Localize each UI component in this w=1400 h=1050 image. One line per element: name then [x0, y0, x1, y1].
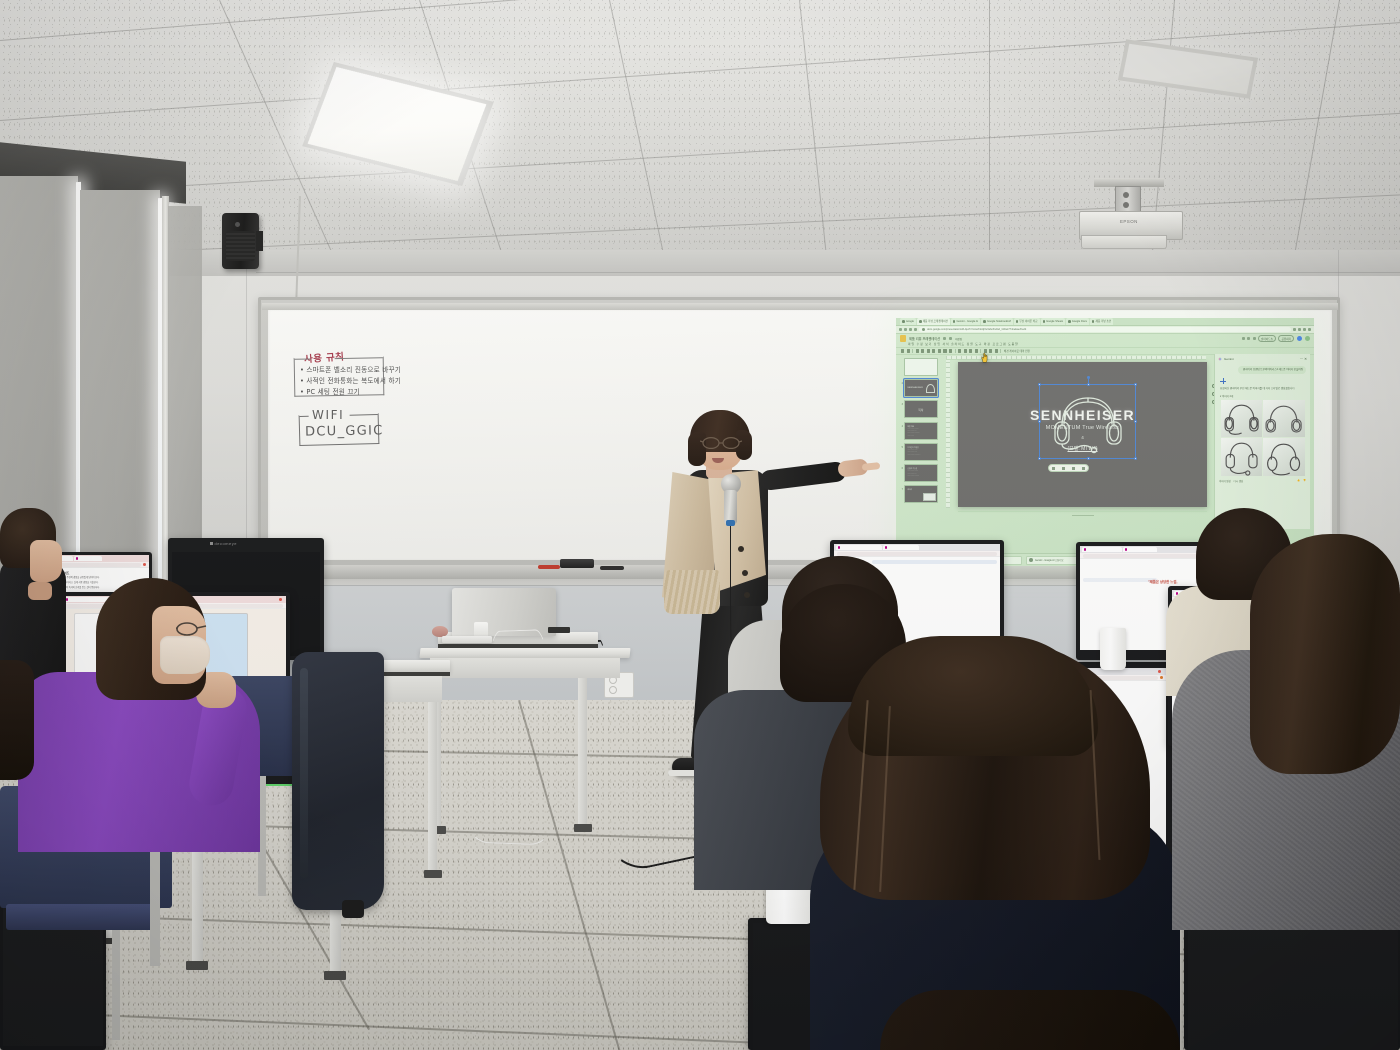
whiteboard-rules-box — [294, 356, 385, 397]
slide-number: 6 — [900, 464, 903, 470]
reload-icon[interactable] — [909, 328, 912, 331]
gemini-response-text: 요청하신 젠하이저 무선 헤드폰 이미지를 네 가지 스타일로 생성했습니다 — [1220, 387, 1305, 391]
url-value: docs.google.com/presentation/d/1JqvZnYcA… — [925, 328, 1026, 331]
slide-number: 3 — [900, 400, 903, 406]
slide-number: 2 — [900, 379, 903, 385]
thumb-body: 배터리 — [907, 489, 935, 491]
avatar[interactable] — [1160, 676, 1163, 679]
projector-lens — [1081, 235, 1167, 249]
thumb-title: 제품 개요 — [907, 426, 914, 428]
browser-tab[interactable]: Google — [900, 318, 916, 324]
slide-number: 4 — [900, 422, 903, 428]
favicon-icon — [885, 546, 887, 548]
replace-image-icon[interactable] — [1072, 467, 1075, 470]
keyboard[interactable] — [442, 636, 492, 643]
gemini-collapse-toggle[interactable]: ▾ 이미지 4개 — [1220, 394, 1305, 398]
profile-badge[interactable] — [279, 598, 282, 601]
url-text[interactable] — [837, 552, 997, 556]
save-status: 저장됨 — [955, 337, 962, 341]
favicon-icon — [66, 598, 68, 600]
zoom-icon[interactable] — [921, 349, 924, 352]
thumb-body: 제품 개요 ··································… — [907, 426, 935, 437]
gemini-image-1[interactable] — [1221, 400, 1262, 437]
thumb-image-placeholder — [923, 493, 936, 501]
image-options-icon[interactable] — [1082, 467, 1085, 470]
line-icon[interactable] — [949, 349, 952, 352]
redo-icon[interactable] — [907, 349, 910, 352]
crop-icon[interactable] — [1052, 467, 1055, 470]
headphone-icon — [1221, 400, 1262, 437]
border-weight-icon[interactable] — [969, 349, 972, 352]
slide-thumbnail[interactable]: 제품 개요 ··································… — [904, 422, 938, 440]
browser-tab[interactable]: 제품 리뷰 초안 — [1090, 318, 1113, 324]
share-button[interactable]: 공유하기 — [1278, 335, 1294, 342]
filmstrip-row[interactable]: 4 제품 개요 ································… — [900, 422, 942, 440]
thumb-title: 목차 — [918, 408, 923, 412]
gemini-action-regenerate[interactable]: 이미지 생성 — [1219, 479, 1231, 483]
folder-icon[interactable] — [949, 337, 952, 340]
student-neck — [28, 582, 52, 600]
select-icon[interactable] — [927, 349, 930, 352]
browser-tab-active[interactable]: 제품 리뷰 프레젠테이션 — [917, 318, 950, 324]
gemini-panel-header: Gemini ⋯ ✕ — [1215, 354, 1310, 363]
border-color-icon[interactable] — [964, 349, 967, 352]
textbox-icon[interactable] — [932, 349, 935, 352]
slides-logo-icon — [900, 335, 906, 342]
student-head — [848, 636, 1098, 756]
home-icon[interactable] — [914, 328, 917, 331]
browser-tab[interactable]: Google Docs — [1066, 318, 1089, 324]
filmstrip-row[interactable]: 7 배터리 — [900, 485, 942, 503]
taskbar-window-label: Gemini - Google AI 스튜디오 — [1033, 558, 1064, 562]
favicon-icon — [1068, 320, 1071, 323]
filmstrip-row[interactable]: 2 SENNHEISER — [900, 379, 942, 397]
gemini-title: Gemini — [1224, 357, 1234, 361]
thumb-up-icon[interactable]: 👍 — [1297, 479, 1300, 482]
browser-tab[interactable] — [883, 545, 919, 550]
new-slide-icon[interactable] — [916, 349, 919, 352]
close-icon[interactable]: ⋯ ✕ — [1300, 357, 1307, 361]
comment-icon[interactable] — [1242, 337, 1245, 340]
vertical-ruler — [946, 360, 950, 508]
browser-address-bar[interactable]: docs.google.com/presentation/d/1JqvZnYcA… — [896, 326, 1314, 334]
wall-speaker — [222, 213, 259, 269]
gemini-sparkle-accent-icon — [1220, 378, 1226, 384]
whiteboard-wifi-box — [299, 413, 380, 446]
speaker-grille — [226, 231, 255, 261]
tab-label: Google Docs — [1072, 320, 1087, 323]
favicon-icon — [1125, 548, 1127, 550]
forward-icon[interactable] — [904, 328, 907, 331]
gemini-sparkle-icon — [1218, 357, 1222, 361]
gemini-image-grid[interactable] — [1221, 400, 1305, 476]
filmstrip-row[interactable] — [900, 358, 942, 376]
outlet-socket-2[interactable] — [609, 686, 617, 694]
tab-label: Google NotebookLM — [987, 320, 1011, 323]
gemini-footer-actions[interactable]: 이미지 생성 다시 생성 👍 👎 — [1215, 476, 1310, 483]
gemini-side-panel[interactable]: Gemini ⋯ ✕ 젠하이저 모멘텀 트루와이어리스4 헤드폰 이미지 만들어… — [1214, 354, 1310, 529]
headphone-icon — [1263, 438, 1304, 475]
filmstrip-row[interactable]: 6 음질과 기능성 ······························… — [900, 464, 942, 482]
slide-thumbnail-selected[interactable]: SENNHEISER — [904, 379, 938, 397]
star-icon[interactable] — [943, 337, 946, 340]
favicon-icon — [983, 320, 986, 323]
student-face-profile — [30, 540, 62, 582]
gemini-user-prompt: 젠하이저 모멘텀 트루와이어리스4 헤드폰 이미지 만들어줘 — [1238, 366, 1306, 374]
tab-label: Google Sheets — [1046, 320, 1063, 323]
undo-icon[interactable] — [901, 349, 904, 352]
gemini-image-2[interactable] — [1263, 400, 1304, 437]
browser-tab[interactable] — [1123, 547, 1157, 552]
slide-thumbnail[interactable]: 목차 — [904, 400, 938, 418]
slide-number: 5 — [900, 443, 903, 449]
tab-label: Gemini - Google AI — [956, 320, 978, 323]
browser-tab[interactable] — [74, 556, 102, 561]
whiteboard-top-rail — [262, 303, 1338, 310]
add-account-icon[interactable] — [1297, 336, 1303, 342]
favicon-icon — [1016, 320, 1019, 323]
shape-icon[interactable] — [943, 349, 946, 352]
browser-tab[interactable]: Google Sheets — [1041, 318, 1066, 324]
star-icon[interactable] — [1293, 328, 1296, 331]
resize-handle-n[interactable] — [1087, 383, 1090, 386]
browser-tab[interactable] — [836, 545, 882, 550]
slide-thumbnail[interactable]: 배터리 — [904, 485, 938, 503]
browser-tab[interactable]: 무선 이어폰 비교 — [1014, 318, 1040, 324]
headphone-icon — [1263, 400, 1304, 437]
glasses-icon — [700, 436, 742, 450]
gemini-image-3[interactable] — [1221, 438, 1262, 475]
chat-bubble — [1083, 578, 1157, 582]
thumb-down-icon[interactable]: 👎 — [1303, 479, 1306, 482]
gemini-action-insert[interactable]: 다시 생성 — [1234, 479, 1243, 483]
face-mask — [160, 636, 210, 674]
thumb-body: 디자인과 착용감 ·······························… — [907, 447, 935, 456]
tab-label: Google — [906, 320, 914, 323]
headphone-icon — [1221, 438, 1262, 475]
favicon-icon — [1092, 320, 1095, 323]
border-dash-icon[interactable] — [975, 349, 978, 352]
image-icon[interactable] — [938, 349, 941, 352]
slide-filmstrip[interactable]: 2 SENNHEISER 3 목차 4 제품 개요 — [900, 357, 942, 507]
projector-brand-label: EPSON — [1120, 219, 1138, 224]
headphone-icon — [926, 384, 935, 393]
browser-tab[interactable]: Gemini - Google AI — [951, 318, 981, 324]
highlight-text: "제품은 상당한 느낌, — [1148, 579, 1177, 584]
menu-icon[interactable] — [1308, 328, 1311, 331]
browser-tab-strip[interactable]: Google 제품 리뷰 프레젠테이션 Gemini - Google AI G… — [896, 318, 1314, 326]
favicon-icon — [1084, 548, 1086, 550]
favicon-icon — [902, 320, 905, 323]
url-text[interactable]: docs.google.com/presentation/d/1JqvZnYcA… — [919, 327, 1291, 332]
instructor-laptop[interactable] — [452, 588, 556, 636]
image-options-toolbar[interactable] — [1048, 464, 1089, 472]
vest-button-3 — [744, 592, 750, 598]
browser-tab[interactable] — [1082, 547, 1122, 552]
remote-control[interactable] — [548, 627, 570, 633]
profile-badge[interactable] — [143, 563, 146, 566]
thumb-body: 음질과 기능성 ································… — [907, 468, 935, 477]
projector-mount-arm — [1115, 186, 1141, 214]
laptop-cable — [483, 629, 560, 821]
slideshow-button[interactable]: 슬라이드쇼 — [1258, 335, 1276, 342]
gemini-image-4[interactable] — [1263, 438, 1304, 475]
thumb-title: SENNHEISER — [907, 387, 923, 389]
present-icon[interactable] — [1247, 337, 1250, 340]
student-hair-edge-left — [0, 660, 34, 780]
selection-box[interactable] — [1039, 384, 1136, 459]
slide-thumbnail[interactable]: 디자인과 착용감 ·······························… — [904, 443, 938, 461]
whiteboard-eraser[interactable] — [560, 559, 594, 568]
student-hair-wavy — [1250, 534, 1400, 774]
coat-lapel — [300, 668, 308, 878]
filmstrip-row[interactable]: 3 목차 — [900, 400, 942, 418]
resize-handle-se[interactable] — [1134, 457, 1137, 460]
notes-resize-bar[interactable] — [1072, 515, 1094, 516]
paper-cup-1[interactable] — [1100, 628, 1126, 670]
window-blind-2[interactable] — [80, 190, 160, 582]
mask-icon[interactable] — [989, 349, 992, 352]
browser-tab[interactable]: Google NotebookLM — [981, 318, 1012, 324]
history-icon[interactable] — [1253, 337, 1256, 340]
monitor-brand-logo: decomeye — [210, 541, 237, 546]
mask-icon[interactable] — [1062, 467, 1065, 470]
browser-tabs[interactable] — [834, 544, 1000, 551]
slide-thumbnail[interactable]: 음질과 기능성 ································… — [904, 464, 938, 482]
student-head-bottom — [880, 990, 1180, 1050]
slide-number: 7 — [900, 485, 903, 491]
hand-cursor-icon — [980, 352, 989, 363]
toolbar-text-group[interactable]: 배경 레이아웃 테마 전환 — [1004, 349, 1030, 353]
slide-number — [900, 358, 903, 361]
glasses-icon — [176, 620, 214, 638]
blind-pull-cord[interactable] — [79, 186, 80, 556]
fill-color-icon[interactable] — [958, 349, 961, 352]
tab-label: 무선 이어폰 비교 — [1019, 319, 1037, 323]
filmstrip-row[interactable]: 5 디자인과 착용감 ·····························… — [900, 443, 942, 461]
classroom-photo: EPSON 사용 규칙 • 스마트폰 벨소리 진동으로 바꾸기 • 사적인 전화… — [0, 0, 1400, 1050]
vest-button-2 — [742, 570, 748, 576]
thumb-title: 디자인과 착용감 — [907, 447, 918, 449]
tab-label: 제품 리뷰 초안 — [1095, 319, 1111, 323]
chat-bubble-user — [872, 560, 997, 564]
recolor-icon[interactable] — [995, 349, 998, 352]
window-blind-3[interactable] — [168, 206, 202, 578]
monitor-brand-text: decomeye — [215, 541, 237, 546]
profile-badge[interactable] — [1158, 670, 1161, 673]
favicon-icon — [76, 557, 78, 559]
instructor-vest-hem — [664, 570, 720, 614]
document-title[interactable]: 제품 리뷰 프레젠테이션 — [909, 336, 940, 341]
speaker-bracket — [256, 231, 263, 251]
favicon-icon — [1043, 320, 1046, 323]
chair-wheel — [342, 900, 364, 918]
thumb-title: 배터리 — [907, 489, 912, 491]
resize-handle-w[interactable] — [1038, 420, 1041, 423]
gemini-collapse-label: 이미지 4개 — [1222, 395, 1233, 398]
speaker-notes-pane[interactable] — [958, 511, 1207, 525]
speaker-led — [235, 222, 240, 227]
microphone-body[interactable] — [724, 490, 737, 524]
favicon-icon — [919, 320, 922, 323]
favicon-icon — [953, 320, 956, 323]
thumb-title: 음질과 기능성 — [907, 468, 917, 470]
slide-thumbnail[interactable] — [904, 358, 938, 376]
marker-black[interactable] — [600, 566, 624, 570]
extensions-icon[interactable] — [1298, 328, 1301, 331]
slides-menubar[interactable]: 파일 수정 보기 삽입 서식 슬라이드 정렬 도구 확장 프로그램 도움말 — [908, 342, 1019, 346]
back-icon[interactable] — [899, 328, 902, 331]
avatar[interactable] — [1305, 336, 1311, 342]
favicon-icon — [838, 546, 840, 548]
tab-label: 제품 리뷰 프레젠테이션 — [923, 319, 948, 323]
resize-handle-nw[interactable] — [1038, 383, 1041, 386]
profile-icon[interactable] — [1303, 328, 1306, 331]
marker-red[interactable] — [538, 565, 560, 569]
